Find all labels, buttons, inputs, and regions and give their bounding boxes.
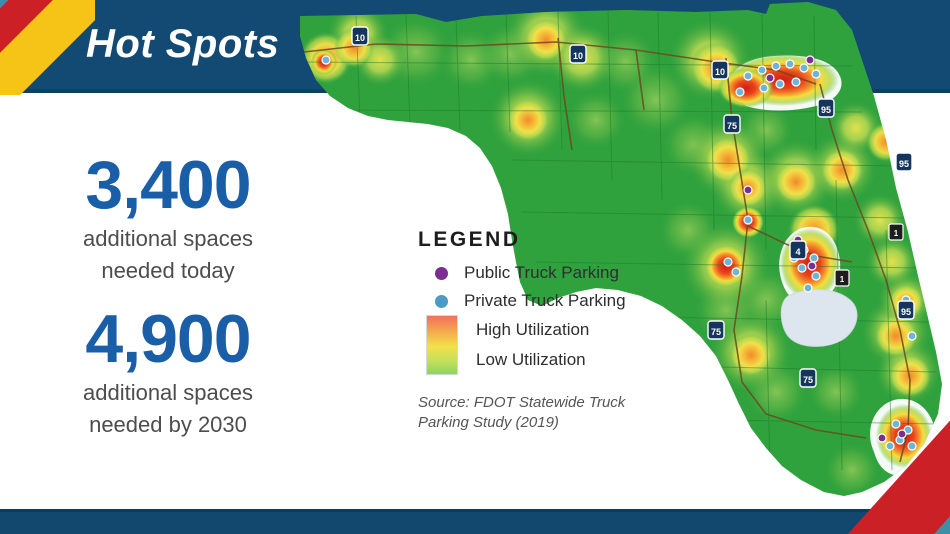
svg-text:95: 95 [899,159,909,169]
stat-block-today: 3,400 additional spaces needed today [18,148,318,286]
stat-caption-today-line2: needed today [18,256,318,286]
stat-caption-2030-line2: needed by 2030 [18,410,318,440]
statistics-panel: 3,400 additional spaces needed today 4,9… [18,148,318,440]
svg-text:1: 1 [840,275,845,284]
footer-band [0,512,950,534]
legend-source-line2: Parking Study (2019) [418,413,648,433]
svg-text:10: 10 [715,67,725,77]
stat-block-2030: 4,900 additional spaces needed by 2030 [18,302,318,440]
page-title: Hot Spots [86,22,279,67]
legend-label-private: Private Truck Parking [464,291,626,311]
public-parking-dot-icon [435,267,448,280]
legend-source-line1: Source: FDOT Statewide Truck [418,393,648,413]
stripe-red-bottom [848,414,950,534]
legend-utilization-scale: High Utilization Low Utilization [418,315,668,375]
stat-number-2030: 4,900 [18,302,318,376]
slide-canvas: Hot Spots [0,0,950,534]
legend-swatch-private [418,295,464,308]
lake-okeechobee [781,290,857,347]
legend-title: LEGEND [418,228,668,252]
utilization-gradient-swatch-icon [426,315,458,375]
legend-label-high-utilization: High Utilization [476,320,589,340]
map-legend: LEGEND Public Truck Parking Private Truc… [418,228,668,433]
svg-text:75: 75 [711,327,721,337]
legend-item-public-truck-parking: Public Truck Parking [418,259,668,287]
stat-number-today: 3,400 [18,148,318,222]
svg-text:75: 75 [803,375,813,385]
legend-label-low-utilization: Low Utilization [476,350,589,370]
decorative-corner-stripes-bottom-right [830,414,950,534]
decorative-corner-stripes-top-left [0,0,95,95]
legend-label-public: Public Truck Parking [464,263,619,283]
svg-text:4: 4 [795,247,800,257]
svg-text:10: 10 [355,33,365,43]
svg-text:95: 95 [821,105,831,115]
svg-text:75: 75 [727,121,737,131]
legend-item-private-truck-parking: Private Truck Parking [418,287,668,315]
stat-caption-2030-line1: additional spaces [18,378,318,408]
stat-caption-today-line1: additional spaces [18,224,318,254]
private-parking-dot-icon [435,295,448,308]
legend-swatch-public [418,267,464,280]
svg-text:10: 10 [573,51,583,61]
utilization-labels: High Utilization Low Utilization [476,315,589,375]
svg-text:1: 1 [894,229,899,238]
svg-text:95: 95 [901,307,911,317]
legend-source: Source: FDOT Statewide Truck Parking Stu… [418,393,648,433]
